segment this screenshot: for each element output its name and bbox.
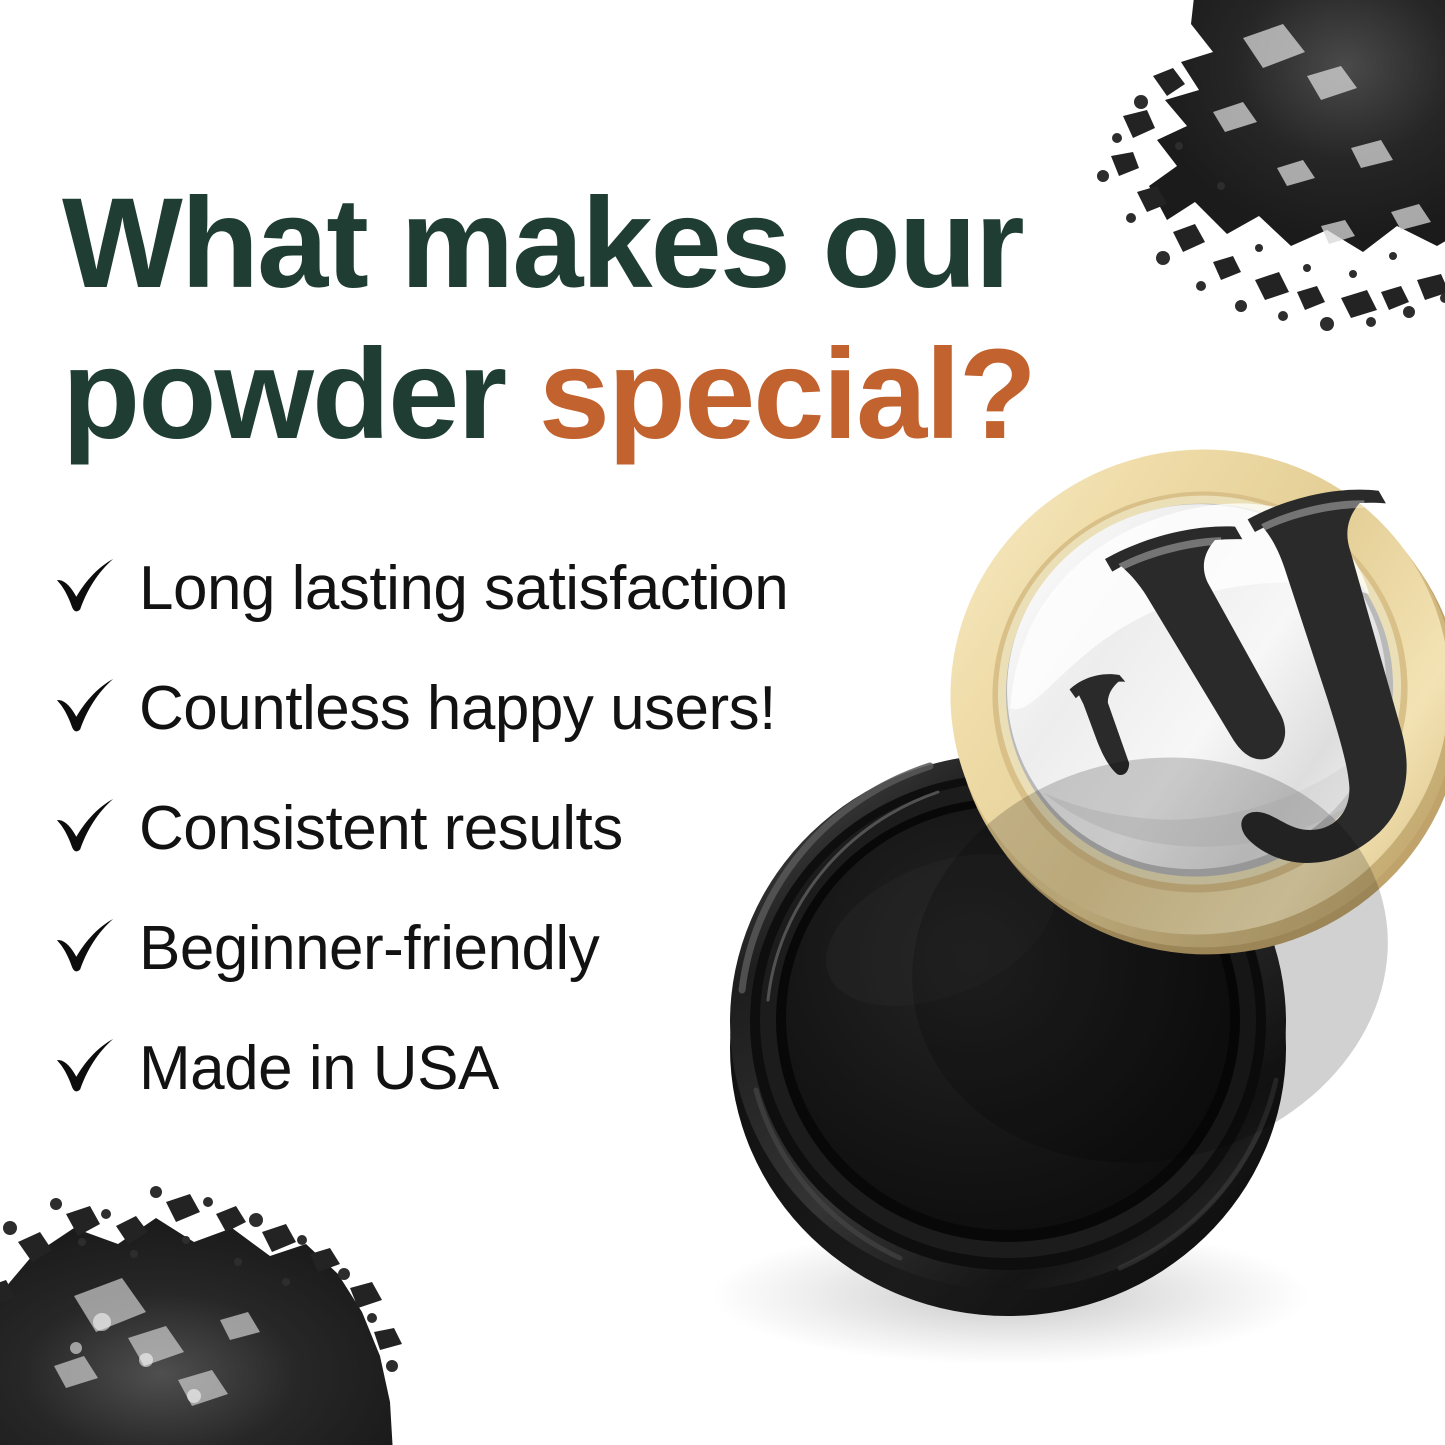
list-item-label: Made in USA: [139, 1033, 499, 1104]
jar-lid: [899, 395, 1445, 1009]
check-icon: [55, 557, 117, 619]
benefits-list: Long lasting satisfaction Countless happ…: [55, 528, 955, 1128]
check-icon: [55, 797, 117, 859]
list-item: Made in USA: [55, 1008, 955, 1128]
headline-line-2-prefix: powder: [62, 323, 539, 466]
list-item: Long lasting satisfaction: [55, 528, 955, 648]
page-title: What makes our powder special?: [62, 168, 1062, 470]
list-item-label: Countless happy users!: [139, 673, 776, 744]
headline-accent-word: special?: [539, 323, 1035, 466]
headline-line-1: What makes our: [62, 172, 1023, 315]
check-icon: [55, 1037, 117, 1099]
list-item-label: Consistent results: [139, 793, 623, 864]
list-item-label: Long lasting satisfaction: [139, 553, 788, 624]
powder-top-right-splash: [1045, 0, 1445, 380]
powder-bottom-left-splash: [0, 1170, 440, 1445]
list-item-label: Beginner-friendly: [139, 913, 599, 984]
check-icon: [55, 677, 117, 739]
list-item: Countless happy users!: [55, 648, 955, 768]
list-item: Beginner-friendly: [55, 888, 955, 1008]
list-item: Consistent results: [55, 768, 955, 888]
product-feature-graphic: What makes our powder special? Long last…: [0, 0, 1445, 1445]
check-icon: [55, 917, 117, 979]
